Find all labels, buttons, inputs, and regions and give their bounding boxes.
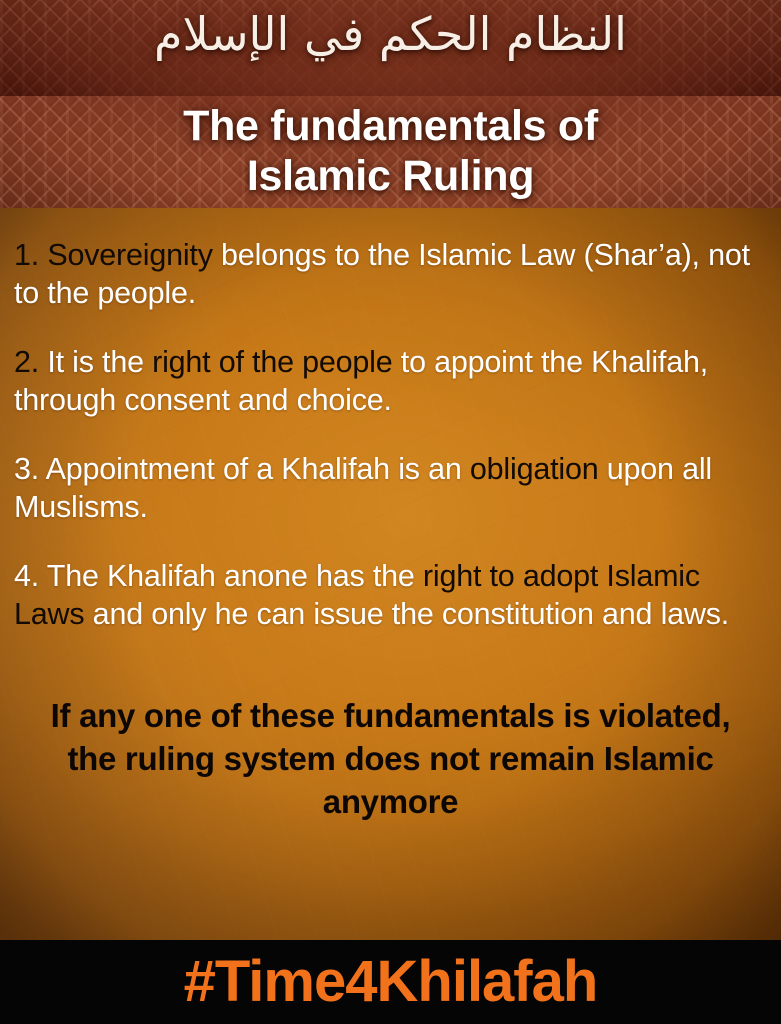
arabic-title: النظام الحكم في الإسلام xyxy=(0,6,781,64)
footer-bar: #Time4Khilafah xyxy=(0,940,781,1024)
point-number: 2. xyxy=(14,345,39,379)
point-text-white-2: and only he can issue the constitution a… xyxy=(84,597,729,631)
points-list: 1. Sovereignity belongs to the Islamic L… xyxy=(0,208,781,940)
page-title: The fundamentals of Islamic Ruling xyxy=(0,102,781,202)
point-text-dark: Sovereignity xyxy=(39,238,213,272)
point-text-white: The Khalifah anone has the xyxy=(39,559,423,593)
point-number: 4. xyxy=(14,559,39,593)
list-item: 3. Appointment of a Khalifah is an oblig… xyxy=(14,450,767,527)
page-title-line-1: The fundamentals of xyxy=(0,102,781,152)
list-item: 2. It is the right of the people to appo… xyxy=(14,343,767,420)
point-text-dark: right of the people xyxy=(152,345,392,379)
header-banner: النظام الحكم في الإسلام The fundamentals… xyxy=(0,0,781,208)
conclusion-statement: If any one of these fundamentals is viol… xyxy=(14,695,767,824)
body-area: 1. Sovereignity belongs to the Islamic L… xyxy=(0,208,781,940)
point-text-dark: obligation xyxy=(470,452,599,486)
poster-root: النظام الحكم في الإسلام The fundamentals… xyxy=(0,0,781,1024)
page-title-line-2: Islamic Ruling xyxy=(0,152,781,202)
hashtag-label: #Time4Khilafah xyxy=(184,953,598,1011)
point-text-white: It is the xyxy=(39,345,152,379)
list-item: 1. Sovereignity belongs to the Islamic L… xyxy=(14,236,767,313)
point-number: 1. xyxy=(14,238,39,272)
point-text-white: Appointment of a Khalifah is an xyxy=(39,452,470,486)
list-item: 4. The Khalifah anone has the right to a… xyxy=(14,557,767,634)
point-number: 3. xyxy=(14,452,39,486)
